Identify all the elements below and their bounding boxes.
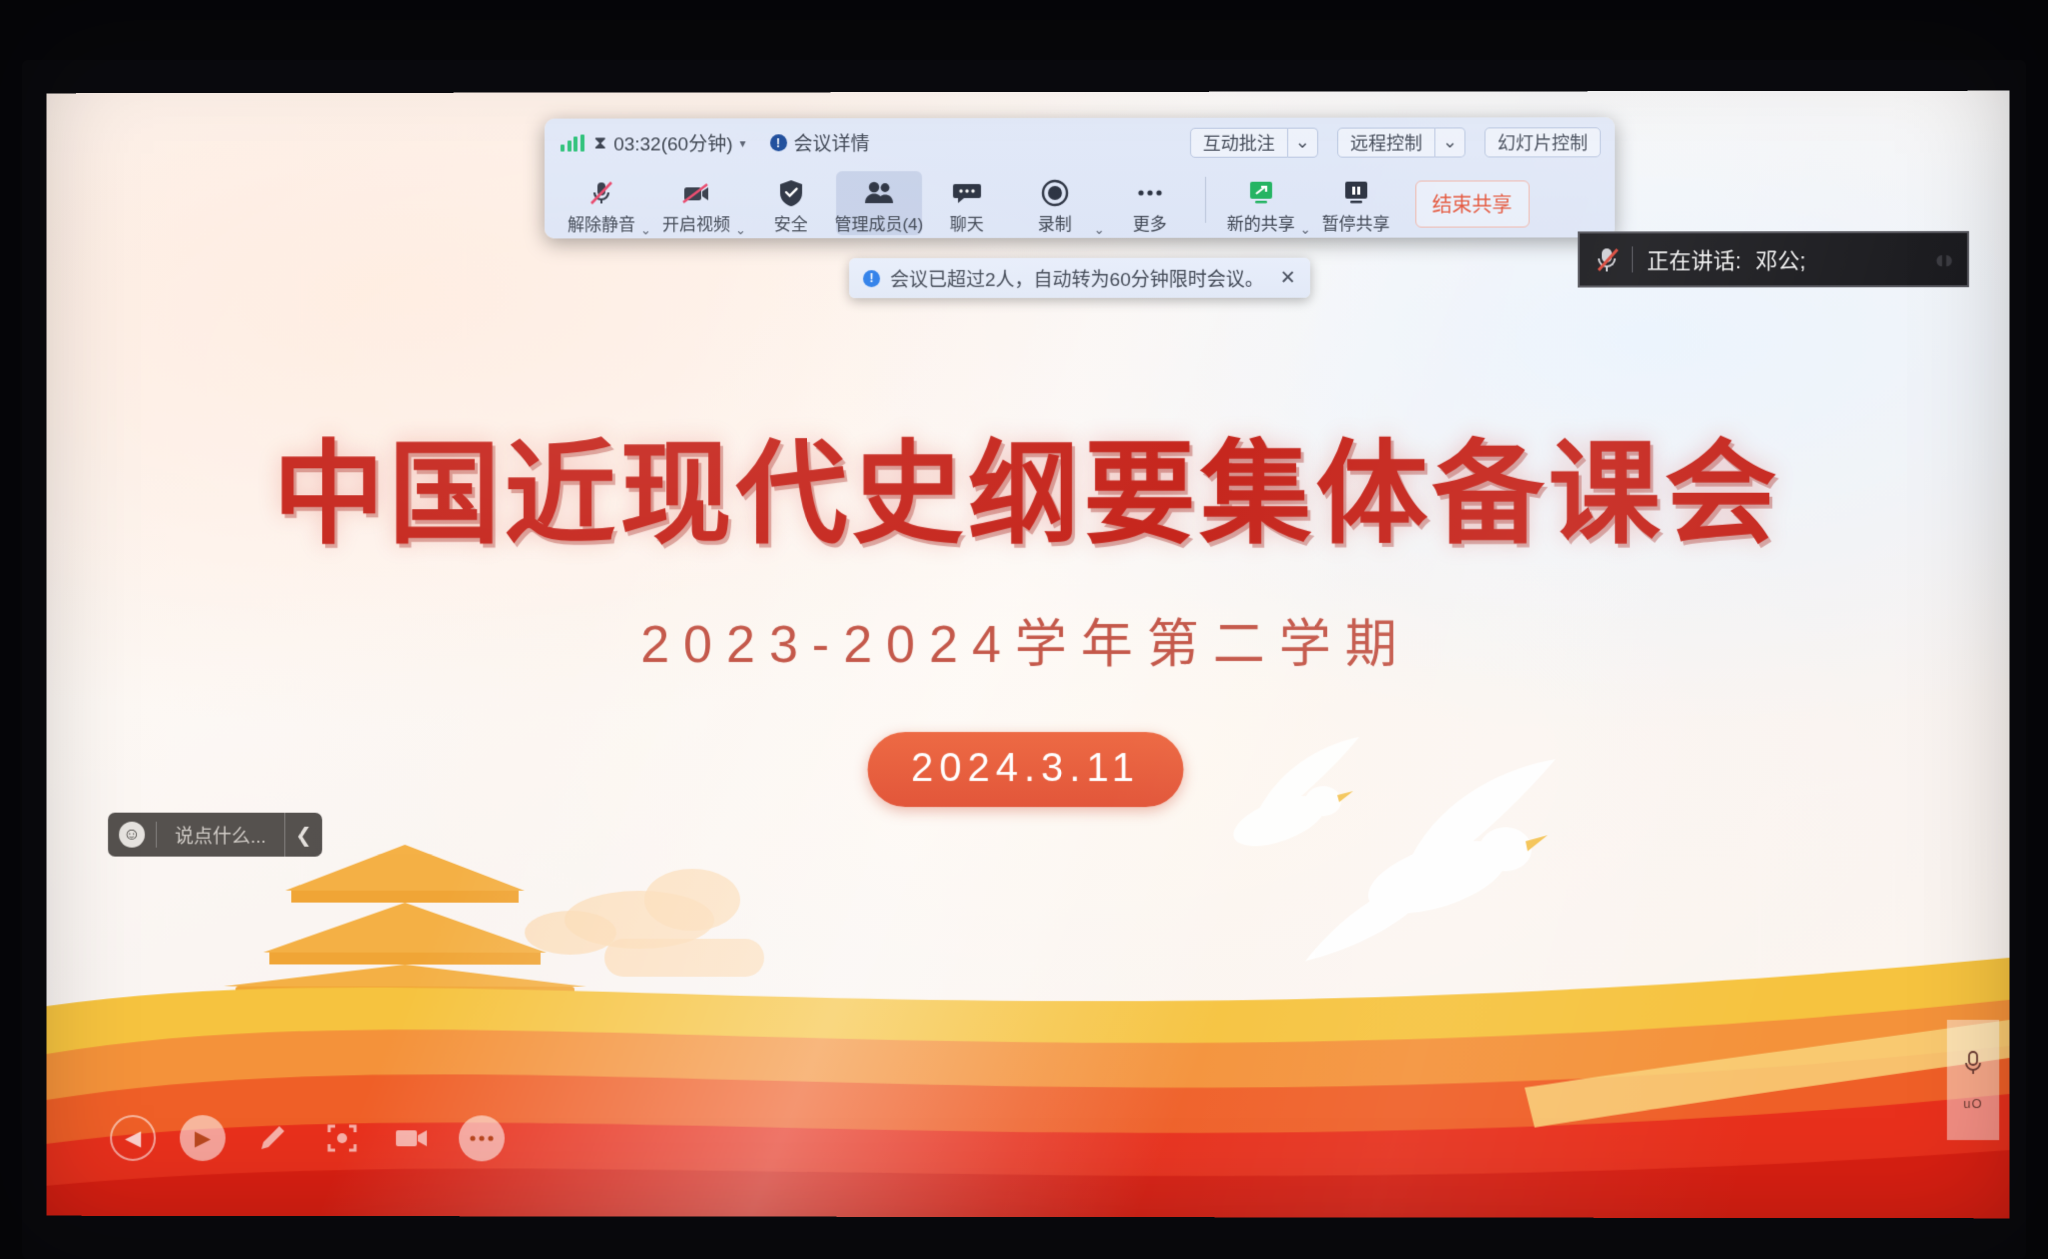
chevron-down-icon[interactable]: ▾ — [740, 136, 746, 150]
slide-subtitle: 2023-2024学年第二学期 — [46, 602, 2009, 677]
mic-widget-label: uO — [1963, 1096, 1982, 1111]
screenshot-button[interactable] — [319, 1115, 365, 1161]
remote-control-caret-icon[interactable]: ⌄ — [1435, 127, 1465, 157]
info-icon: ! — [863, 270, 880, 287]
toolbar-label-chat: 聊天 — [950, 210, 984, 235]
ribbon-decoration — [46, 886, 2009, 1218]
floating-mic-widget[interactable]: uO — [1947, 1020, 1999, 1140]
hourglass-icon: ⧗ — [594, 133, 607, 154]
play-icon: ▶ — [195, 1126, 211, 1151]
avatar: ◖◗ — [1931, 244, 1951, 275]
more-button[interactable] — [459, 1115, 505, 1161]
annotate-button[interactable] — [249, 1115, 295, 1161]
active-speaker-banner: 正在讲话: 邓公; ◖◗ — [1578, 231, 1969, 287]
speaker-label: 正在讲话: — [1647, 243, 1741, 275]
microphone-muted-icon — [1596, 246, 1618, 272]
pause-share-icon — [1341, 176, 1371, 209]
photograph-of-monitor: 中国近现代史纲要集体备课会 2023-2024学年第二学期 2024.3.11 … — [0, 0, 2048, 1259]
toolbar-item-start-video[interactable]: 开启视频 — [653, 171, 739, 235]
chat-bubble-icon — [952, 176, 982, 209]
record-circle-icon — [1040, 176, 1070, 209]
info-icon: ! — [770, 134, 787, 151]
slide-control-button-group: 幻灯片控制 — [1484, 127, 1600, 157]
record-caret-icon[interactable]: ⌄ — [1094, 222, 1105, 238]
toolbar-label-manage-participants: 管理成员(4) — [835, 210, 924, 235]
toolbar-item-security[interactable]: 安全 — [748, 171, 834, 235]
toolbar-item-unmute[interactable]: 解除静音 — [559, 171, 645, 235]
toolbar-item-more[interactable]: 更多 — [1107, 171, 1193, 235]
comment-input-bar[interactable]: ☺ 说点什么... ❮ — [108, 813, 322, 857]
microphone-icon — [1961, 1049, 1985, 1086]
comment-input[interactable]: 说点什么... — [157, 821, 284, 848]
toolbar-label-security: 安全 — [774, 210, 808, 235]
speaker-divider — [1632, 246, 1633, 272]
previous-button[interactable]: ◀ — [110, 1115, 156, 1161]
start-video-caret-icon[interactable]: ⌄ — [735, 222, 746, 238]
pen-icon — [255, 1121, 289, 1155]
screen-content: 中国近现代史纲要集体备课会 2023-2024学年第二学期 2024.3.11 … — [46, 91, 2009, 1219]
meeting-toolbar: ⧗ 03:32(60分钟) ▾ ! 会议详情 互动批注 ⌄ 远程控制 ⌄ — [545, 117, 1615, 238]
toolbar-item-manage-participants[interactable]: 管理成员(4) — [836, 171, 922, 235]
toolbar-label-unmute: 解除静音 — [568, 210, 636, 235]
toolbar-item-record[interactable]: 录制 — [1012, 171, 1098, 235]
annotation-button-group: 互动批注 ⌄ — [1190, 127, 1318, 157]
chevron-left-icon[interactable]: ❮ — [284, 813, 322, 857]
toolbar-label-start-video: 开启视频 — [662, 210, 730, 235]
video-camera-icon — [394, 1123, 430, 1153]
close-icon[interactable]: ✕ — [1280, 266, 1296, 289]
dove-illustration — [1187, 729, 1367, 879]
toolbar-item-new-share[interactable]: 新的共享 — [1218, 171, 1304, 235]
new-share-caret-icon[interactable]: ⌄ — [1300, 222, 1311, 238]
meeting-details-label: 会议详情 — [794, 129, 870, 156]
meeting-details-button[interactable]: ! 会议详情 — [770, 129, 870, 156]
more-dots-icon — [468, 1133, 496, 1143]
toolbar-label-new-share: 新的共享 — [1227, 210, 1295, 235]
unmute-caret-icon[interactable]: ⌄ — [640, 222, 651, 238]
smiley-icon[interactable]: ☺ — [119, 822, 145, 848]
play-left-icon: ◀ — [125, 1126, 141, 1151]
meeting-limit-notification: ! 会议已超过2人，自动转为60分钟限时会议。 ✕ — [849, 258, 1310, 298]
participants-icon — [863, 176, 895, 209]
shield-check-icon — [777, 176, 805, 209]
slide-control-button[interactable]: 幻灯片控制 — [1484, 127, 1600, 157]
camera-off-icon — [680, 176, 712, 209]
slide-player-toolbar: ◀ ▶ — [110, 1115, 505, 1161]
remote-control-button-group: 远程控制 ⌄ — [1337, 127, 1465, 157]
remote-control-button[interactable]: 远程控制 — [1337, 127, 1435, 157]
toolbar-label-record: 录制 — [1038, 210, 1072, 235]
toolbar-divider — [1205, 177, 1206, 223]
record-button[interactable] — [389, 1115, 435, 1161]
notification-text: 会议已超过2人，自动转为60分钟限时会议。 — [890, 264, 1264, 291]
slide-title: 中国近现代史纲要集体备课会 — [46, 403, 2009, 566]
signal-bars-icon — [561, 135, 584, 152]
toolbar-label-more: 更多 — [1133, 210, 1167, 235]
toolbar-item-pause-share[interactable]: 暂停共享 — [1313, 171, 1399, 235]
meeting-timer[interactable]: ⧗ 03:32(60分钟) ▾ — [594, 129, 746, 156]
microphone-muted-icon — [586, 176, 616, 209]
new-share-icon — [1246, 176, 1276, 209]
interactive-annotation-button[interactable]: 互动批注 — [1190, 127, 1288, 157]
end-share-button[interactable]: 结束共享 — [1415, 180, 1529, 227]
meeting-toolbar-status-row: ⧗ 03:32(60分钟) ▾ ! 会议详情 互动批注 ⌄ 远程控制 ⌄ — [545, 117, 1615, 167]
speaker-name: 邓公; — [1755, 243, 1805, 275]
play-button[interactable]: ▶ — [180, 1115, 226, 1161]
meeting-toolbar-actions-row: 解除静音 ⌄ 开启视频 ⌄ — [545, 166, 1615, 238]
toolbar-label-pause-share: 暂停共享 — [1322, 210, 1390, 235]
slide-date-badge: 2024.3.11 — [867, 732, 1184, 807]
interactive-annotation-caret-icon[interactable]: ⌄ — [1288, 127, 1318, 157]
meeting-timer-text: 03:32(60分钟) — [614, 129, 733, 156]
toolbar-item-chat[interactable]: 聊天 — [924, 171, 1010, 235]
capture-frame-icon — [325, 1121, 359, 1155]
more-dots-icon — [1135, 176, 1165, 209]
